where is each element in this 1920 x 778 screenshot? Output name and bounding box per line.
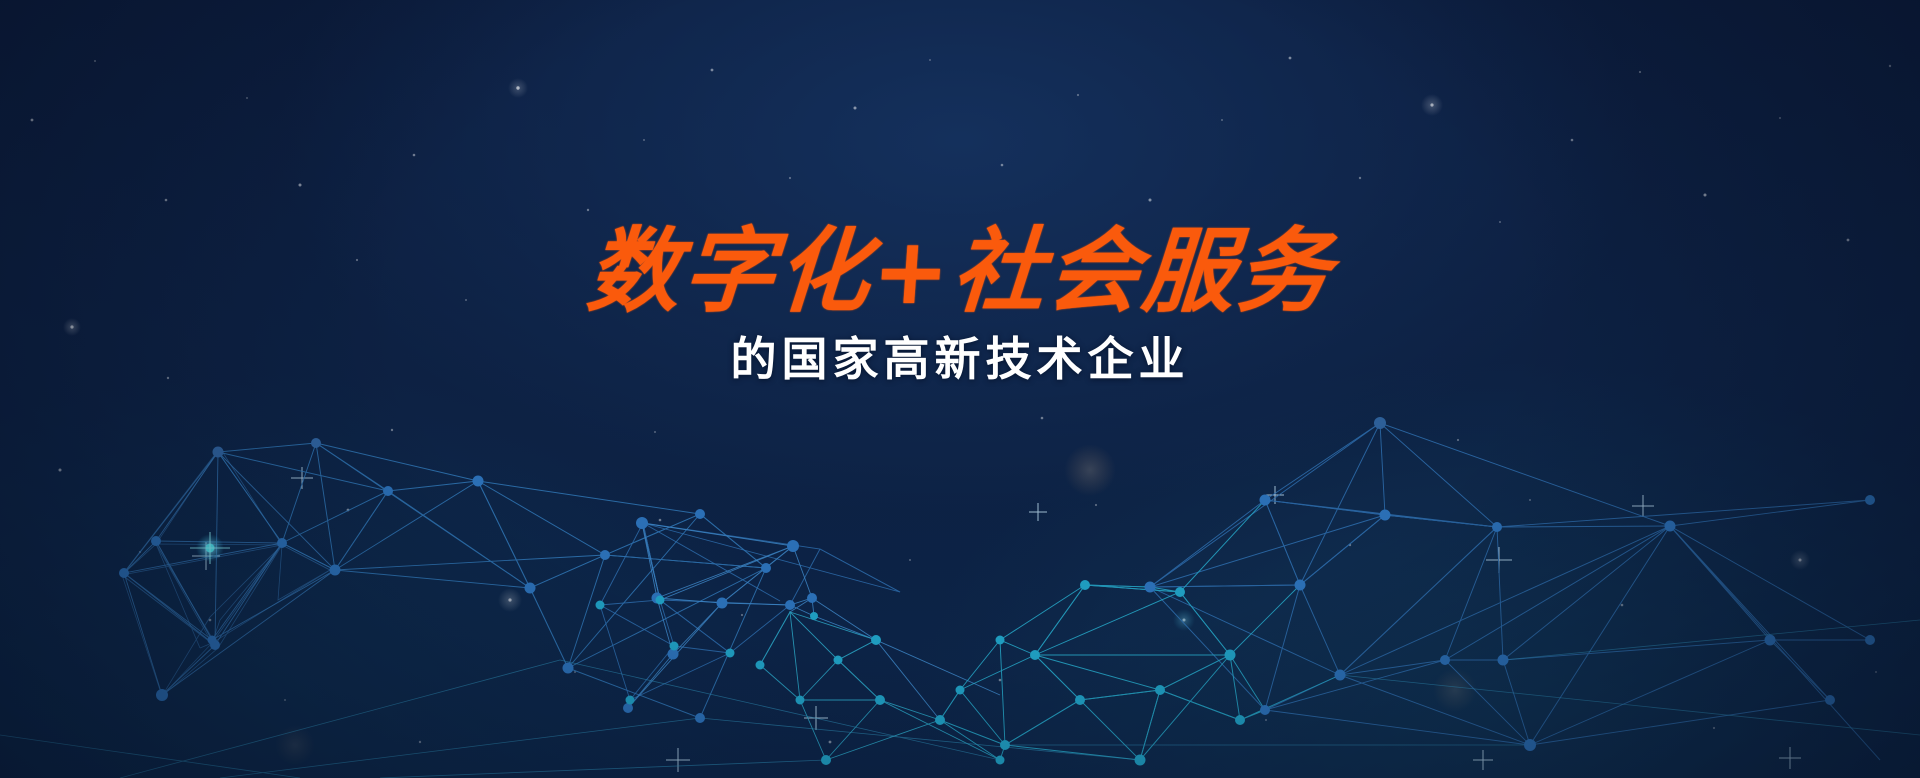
page-subtitle: 的国家高新技术企业: [0, 333, 1920, 386]
network-mesh-main: [0, 0, 1920, 778]
page-title: 数字化+社会服务: [0, 222, 1920, 321]
hero-banner: 数字化+社会服务 的国家高新技术企业: [0, 0, 1920, 778]
hero-text-block: 数字化+社会服务 的国家高新技术企业: [0, 222, 1920, 386]
